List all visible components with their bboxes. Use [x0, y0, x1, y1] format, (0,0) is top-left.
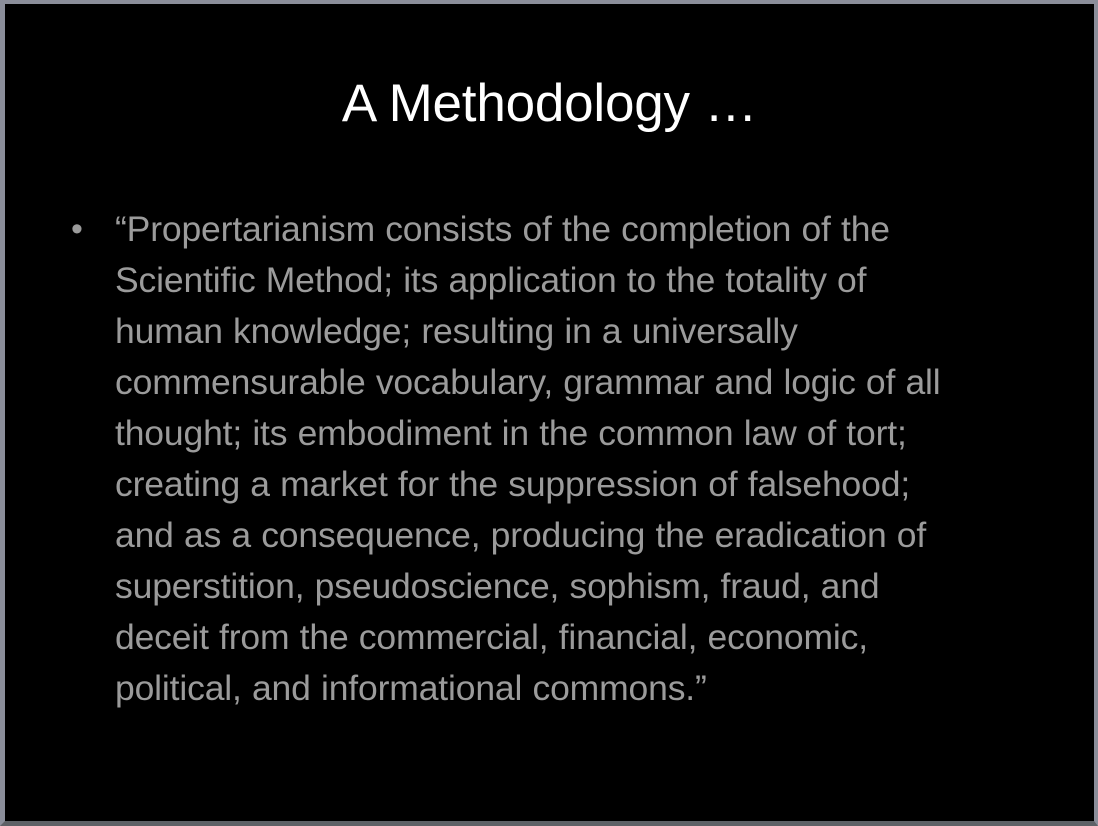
- body-line: “Propertarianism consists of the complet…: [115, 204, 1051, 255]
- body-content: • “Propertarianism consists of the compl…: [61, 204, 1051, 714]
- list-item: • “Propertarianism consists of the compl…: [61, 204, 1051, 714]
- bullet-paragraph: “Propertarianism consists of the complet…: [115, 204, 1051, 714]
- slide-frame: A Methodology … • “Propertarianism consi…: [0, 0, 1098, 826]
- bullet-icon: •: [61, 204, 115, 255]
- body-line: commensurable vocabulary, grammar and lo…: [115, 357, 1051, 408]
- body-line: creating a market for the suppression of…: [115, 459, 1051, 510]
- body-line: political, and informational commons.”: [115, 663, 1051, 714]
- body-line: human knowledge; resulting in a universa…: [115, 306, 1051, 357]
- body-line: deceit from the commercial, financial, e…: [115, 612, 1051, 663]
- body-line: and as a consequence, producing the erad…: [115, 510, 1051, 561]
- body-line: superstition, pseudoscience, sophism, fr…: [115, 561, 1051, 612]
- page-title: A Methodology …: [5, 76, 1094, 132]
- slide-canvas: A Methodology … • “Propertarianism consi…: [5, 4, 1094, 821]
- body-line: Scientific Method; its application to th…: [115, 255, 1051, 306]
- body-line: thought; its embodiment in the common la…: [115, 408, 1051, 459]
